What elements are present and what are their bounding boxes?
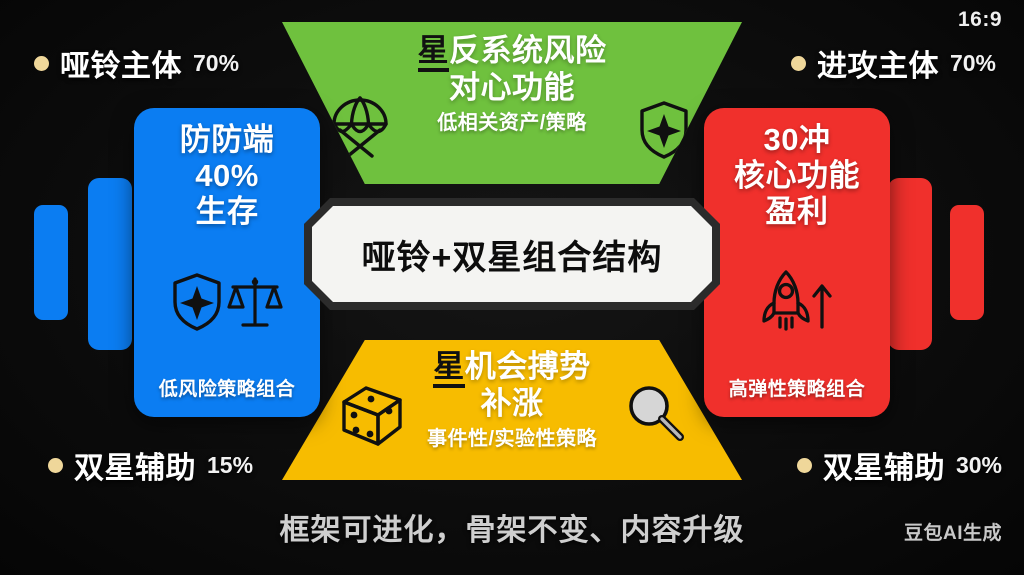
callout-top-left-percent: 70% <box>193 50 239 77</box>
dumbbell-plate-left-outer <box>34 205 68 320</box>
panel-opportunity[interactable]: 星机会搏势 补涨 事件性/实验性策略 <box>282 340 742 480</box>
callout-bottom-left: 双星辅助 15% <box>48 443 253 487</box>
callout-top-left-label: 哑铃主体 <box>60 41 182 85</box>
center-title: 哑铃+双星组合结构 <box>362 230 663 279</box>
dumbbell-plate-right-outer <box>950 205 984 320</box>
card-right-line3: 盈利 <box>766 194 829 229</box>
aspect-ratio-badge: 16:9 <box>958 8 1002 32</box>
card-right-icons <box>760 230 834 374</box>
callout-bottom-right-percent: 30% <box>956 452 1002 479</box>
callout-top-left: 哑铃主体 70% <box>34 41 239 85</box>
trap-top-title-line2-wrap: 对心功能 <box>449 69 575 106</box>
watermark: 豆包AI生成 <box>904 518 1002 545</box>
card-defense[interactable]: 防防端 40% 生存 低风险策略组 <box>134 108 320 417</box>
dumbbell-plate-left-middle <box>88 178 132 350</box>
trap-bottom-title-line2-wrap: 补涨 <box>481 385 544 422</box>
trap-bottom-star-marker: 星 <box>433 349 465 388</box>
trap-bottom-subtitle: 事件性/实验性策略 <box>427 422 597 451</box>
parachute-icon <box>330 94 390 160</box>
trap-top-star-marker: 星 <box>418 33 450 72</box>
card-right-line1: 30冲 <box>764 122 831 157</box>
tagline: 框架可进化，骨架不变、内容升级 <box>0 505 1024 549</box>
panel-anti-systemic-risk[interactable]: 星反系统风险 对心功能 低相关资产/策略 <box>282 22 742 184</box>
shield-spark-icon <box>171 272 223 332</box>
callout-top-right-percent: 70% <box>950 50 996 77</box>
callout-top-right-label: 进攻主体 <box>817 41 939 85</box>
infographic-canvas: 16:9 星反系统风险 对心功能 低相关资产/策略 <box>0 0 1024 575</box>
card-offense[interactable]: 30冲 核心功能 盈利 高弹性策略组合 <box>704 108 890 417</box>
card-right-footnote: 高弹性策略组合 <box>729 374 866 401</box>
shield-spark-icon <box>638 100 690 160</box>
card-left-footnote: 低风险策略组合 <box>159 374 296 401</box>
callout-bottom-left-label: 双星辅助 <box>74 443 196 487</box>
bullet-dot-icon <box>34 56 49 71</box>
trap-top-title-line1: 反系统风险 <box>449 33 607 68</box>
card-left-line1: 防防端 <box>180 122 275 157</box>
card-left-icons <box>171 230 283 374</box>
trap-bottom-title-line2: 补涨 <box>481 386 544 421</box>
callout-bottom-left-percent: 15% <box>207 452 253 479</box>
dumbbell-plate-right-middle <box>888 178 932 350</box>
callout-bottom-right: 双星辅助 30% <box>797 443 1002 487</box>
trap-top-subtitle: 低相关资产/策略 <box>437 106 587 135</box>
card-right-line2: 核心功能 <box>734 158 860 193</box>
scales-icon <box>227 273 283 331</box>
card-left-heading: 防防端 40% 生存 <box>180 122 275 230</box>
card-right-heading: 30冲 核心功能 盈利 <box>734 122 860 230</box>
dice-icon <box>340 382 404 448</box>
callout-top-right: 进攻主体 70% <box>791 41 996 85</box>
bullet-dot-icon <box>48 458 63 473</box>
center-badge-inner: 哑铃+双星组合结构 <box>312 206 712 302</box>
center-structure-badge: 哑铃+双星组合结构 <box>304 198 720 310</box>
card-left-line3: 生存 <box>196 194 259 229</box>
bullet-dot-icon <box>797 458 812 473</box>
trap-top-title-line2: 对心功能 <box>449 70 575 105</box>
bullet-dot-icon <box>791 56 806 71</box>
trap-bottom-title-line1: 机会搏势 <box>465 349 591 384</box>
rocket-icon <box>760 269 834 335</box>
card-left-line2: 40% <box>195 158 259 193</box>
magnifier-icon <box>624 382 686 444</box>
trap-bottom-title: 星机会搏势 <box>433 348 591 385</box>
trap-top-title: 星反系统风险 <box>418 32 607 69</box>
callout-bottom-right-label: 双星辅助 <box>823 443 945 487</box>
